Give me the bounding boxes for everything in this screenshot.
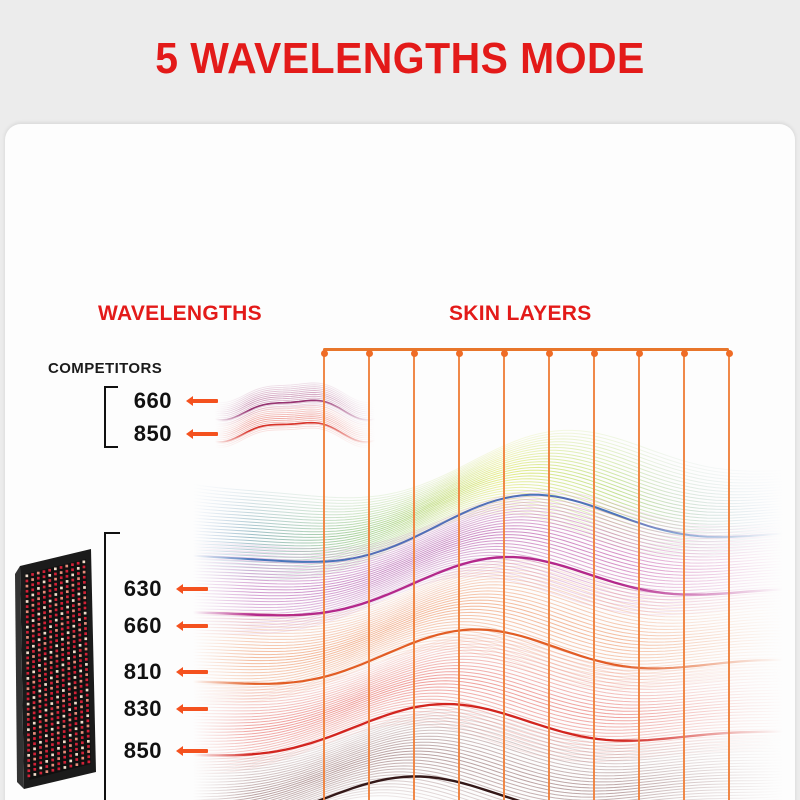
led-dot <box>84 637 87 640</box>
led-dot <box>26 621 29 624</box>
led-dot <box>54 568 57 571</box>
led-dot <box>44 693 47 696</box>
led-dot <box>83 571 86 574</box>
led-dot <box>49 625 52 628</box>
led-dot <box>55 650 58 653</box>
led-dot <box>26 585 29 588</box>
led-dot <box>72 625 75 628</box>
led-dot <box>80 680 83 683</box>
led-dot <box>32 681 35 684</box>
led-dot <box>45 734 48 737</box>
led-dot <box>62 710 65 713</box>
led-dot <box>62 669 65 672</box>
led-dot <box>27 759 30 762</box>
led-dot <box>68 683 71 686</box>
led-dot <box>33 753 36 756</box>
led-dot <box>33 768 36 771</box>
led-dot <box>60 607 63 610</box>
skin-layer-line <box>413 352 415 800</box>
led-dot <box>33 763 36 766</box>
led-dot <box>26 662 29 665</box>
led-dot <box>38 643 41 646</box>
led-dot <box>39 761 42 764</box>
led-dot <box>51 743 54 746</box>
led-dot <box>70 765 73 768</box>
led-dot <box>72 609 75 612</box>
led-dot <box>88 761 91 764</box>
led-dot <box>33 737 36 740</box>
led-dot <box>67 662 70 665</box>
led-dot <box>54 583 57 586</box>
led-dot <box>55 619 58 622</box>
led-dot <box>57 742 60 745</box>
wavelength-value: 850 <box>118 421 172 447</box>
led-dot <box>86 694 89 697</box>
skin-layer-line <box>503 352 505 800</box>
led-dot <box>83 581 86 584</box>
led-dot <box>26 580 29 583</box>
led-dot <box>50 687 53 690</box>
led-dot <box>62 679 65 682</box>
led-dot <box>63 725 66 728</box>
wavelength-value: 810 <box>108 659 162 685</box>
competitors-bracket <box>104 386 118 448</box>
led-dot <box>73 630 76 633</box>
skin-layer-line <box>683 352 685 800</box>
led-dot <box>39 700 42 703</box>
led-dot <box>85 648 88 651</box>
led-dot <box>56 706 59 709</box>
led-dot <box>77 588 80 591</box>
led-dot <box>80 685 83 688</box>
led-dot <box>68 672 71 675</box>
skin-layer-dot <box>501 350 508 357</box>
led-dot <box>57 732 60 735</box>
led-dot <box>68 693 71 696</box>
wavelength-value: 660 <box>118 388 172 414</box>
led-dot <box>51 759 54 762</box>
led-dot <box>56 680 59 683</box>
led-dot <box>44 637 47 640</box>
led-dot <box>63 756 66 759</box>
led-dot <box>56 675 59 678</box>
led-dot <box>26 631 29 634</box>
led-dot <box>60 571 63 574</box>
led-dot <box>78 593 81 596</box>
led-dot <box>33 717 36 720</box>
led-dot <box>76 763 79 766</box>
led-dot <box>73 645 76 648</box>
led-dot <box>63 720 66 723</box>
led-dot <box>87 735 90 738</box>
led-dot <box>80 700 83 703</box>
led-dot <box>27 728 30 731</box>
led-dot <box>73 635 76 638</box>
led-dot <box>51 718 54 721</box>
arrow-left-icon <box>176 704 208 714</box>
led-dot <box>49 610 52 613</box>
led-dot <box>27 764 30 767</box>
led-dot <box>79 670 82 673</box>
led-dot <box>52 769 55 772</box>
led-dot <box>45 729 48 732</box>
led-dot <box>43 627 46 630</box>
led-dot <box>86 689 89 692</box>
led-dot <box>69 724 72 727</box>
led-dot <box>62 699 65 702</box>
led-dot <box>45 704 48 707</box>
led-dot <box>67 631 70 634</box>
led-dot <box>27 749 30 752</box>
led-dot <box>73 661 76 664</box>
led-dot <box>40 772 43 775</box>
led-dot <box>38 628 41 631</box>
led-dot <box>49 595 52 598</box>
led-dot <box>78 603 81 606</box>
skin-layer-dot <box>321 350 328 357</box>
led-dot <box>69 760 72 763</box>
led-dot <box>50 666 53 669</box>
skin-layer-dot <box>456 350 463 357</box>
led-dot <box>62 694 65 697</box>
skin-layer-dot <box>366 350 373 357</box>
skin-layer-dot <box>726 350 733 357</box>
led-dot <box>57 747 60 750</box>
led-dot <box>83 586 86 589</box>
wavelength-value: 660 <box>108 613 162 639</box>
led-dot <box>27 769 30 772</box>
led-dot <box>32 609 35 612</box>
led-dot <box>78 618 81 621</box>
led-dot <box>33 706 36 709</box>
led-dot <box>39 751 42 754</box>
led-dot <box>32 640 35 643</box>
led-dot <box>68 708 71 711</box>
led-dot <box>60 581 63 584</box>
led-dot <box>44 678 47 681</box>
led-dot <box>86 704 89 707</box>
led-dot <box>75 738 78 741</box>
led-dot <box>26 616 29 619</box>
led-dot <box>26 646 29 649</box>
led-dot <box>61 623 64 626</box>
led-dot <box>66 580 69 583</box>
led-dot <box>44 663 47 666</box>
led-dot <box>72 584 75 587</box>
led-dot <box>37 582 40 585</box>
led-dot <box>43 632 46 635</box>
led-dot <box>68 678 71 681</box>
led-dot <box>60 597 63 600</box>
wave-line <box>193 644 783 696</box>
led-dot <box>33 712 36 715</box>
led-dot <box>33 727 36 730</box>
led-dot <box>72 594 75 597</box>
led-dot <box>65 565 68 568</box>
led-dot <box>38 669 41 672</box>
led-dot <box>67 642 70 645</box>
led-dot <box>66 616 69 619</box>
led-dot <box>33 747 36 750</box>
led-dot <box>39 695 42 698</box>
led-dot <box>39 731 42 734</box>
led-dot <box>80 705 83 708</box>
led-dot <box>38 685 41 688</box>
led-dot <box>64 766 67 769</box>
led-dot <box>81 731 84 734</box>
led-dot <box>68 688 71 691</box>
led-dot <box>82 762 85 765</box>
led-dot <box>84 622 87 625</box>
led-dot <box>44 652 47 655</box>
led-dot <box>32 619 35 622</box>
led-dot <box>27 677 30 680</box>
led-dot <box>67 647 70 650</box>
led-dot <box>54 578 57 581</box>
led-dot <box>27 718 30 721</box>
led-dot <box>26 610 29 613</box>
led-dot <box>45 714 48 717</box>
led-dot <box>87 745 90 748</box>
skin-layer-line <box>368 352 370 800</box>
led-dot <box>33 696 36 699</box>
led-dot <box>75 758 78 761</box>
led-dot <box>62 674 65 677</box>
led-dot <box>43 581 46 584</box>
led-dot <box>87 730 90 733</box>
led-dot <box>39 767 42 770</box>
led-dot <box>27 682 30 685</box>
arrow-left-icon <box>176 746 208 756</box>
led-dot <box>72 620 75 623</box>
led-dot <box>54 573 57 576</box>
led-dot <box>50 651 53 654</box>
led-dot <box>66 595 69 598</box>
led-dot <box>26 590 29 593</box>
led-dot <box>60 566 63 569</box>
led-dot <box>38 633 41 636</box>
skin-layer-dot <box>681 350 688 357</box>
led-dot <box>32 676 35 679</box>
led-dot <box>55 629 58 632</box>
led-dot <box>55 598 58 601</box>
led-dot <box>60 587 63 590</box>
led-dot <box>54 593 57 596</box>
led-dot <box>45 724 48 727</box>
led-dot <box>61 648 64 651</box>
led-dot <box>63 740 66 743</box>
led-dot <box>26 651 29 654</box>
led-dot <box>39 705 42 708</box>
led-dot <box>33 742 36 745</box>
led-dot <box>78 634 81 637</box>
led-dot <box>56 685 59 688</box>
led-dot <box>63 735 66 738</box>
led-dot <box>33 722 36 725</box>
led-dot <box>46 770 49 773</box>
led-dot <box>84 632 87 635</box>
led-dot <box>50 661 53 664</box>
led-dot <box>85 643 88 646</box>
led-dot <box>79 649 82 652</box>
led-dot <box>81 757 84 760</box>
wavelength-value: 850 <box>108 738 162 764</box>
led-dot <box>83 591 86 594</box>
led-dot <box>63 761 66 764</box>
led-dot <box>45 745 48 748</box>
led-dot <box>27 739 30 742</box>
led-dot <box>49 605 52 608</box>
arrow-left-icon <box>176 584 208 594</box>
led-dot <box>45 719 48 722</box>
led-dot <box>32 660 35 663</box>
led-dot <box>80 716 83 719</box>
led-dot <box>43 611 46 614</box>
led-dot <box>45 740 48 743</box>
led-dot <box>63 751 66 754</box>
led-dot <box>49 630 52 633</box>
led-dot <box>56 670 59 673</box>
led-dot <box>72 589 75 592</box>
led-dot <box>72 604 75 607</box>
led-dot <box>66 611 69 614</box>
led-dot <box>85 653 88 656</box>
led-dot <box>62 684 65 687</box>
led-dot <box>79 654 82 657</box>
skin-layer-line <box>593 352 595 800</box>
led-dot <box>83 561 86 564</box>
led-dot <box>31 573 34 576</box>
wavelength-value: 830 <box>108 696 162 722</box>
led-dot <box>43 596 46 599</box>
skin-layers-rule <box>323 348 729 351</box>
led-dot <box>33 732 36 735</box>
led-dot <box>37 592 40 595</box>
product-wavelength-row: 830 <box>108 696 208 722</box>
led-dot <box>72 599 75 602</box>
led-dot <box>80 711 83 714</box>
led-dot <box>27 692 30 695</box>
led-dot <box>85 658 88 661</box>
led-dot <box>69 729 72 732</box>
led-dot <box>50 702 53 705</box>
led-dot <box>43 586 46 589</box>
led-dot <box>68 703 71 706</box>
competitors-label: COMPETITORS <box>48 360 162 377</box>
led-dot <box>51 712 54 715</box>
led-dot <box>74 686 77 689</box>
led-dot <box>73 640 76 643</box>
led-dot <box>81 747 84 750</box>
led-dot <box>26 575 29 578</box>
led-dot <box>45 750 48 753</box>
led-dot <box>72 615 75 618</box>
skin-layer-line <box>728 352 730 800</box>
led-dot <box>57 716 60 719</box>
led-dot <box>74 707 77 710</box>
led-dot <box>39 756 42 759</box>
led-dot <box>69 734 72 737</box>
led-dot <box>33 701 36 704</box>
page-title: 5 WAVELENGTHS MODE <box>28 34 772 84</box>
led-dot <box>83 576 86 579</box>
led-dot <box>48 579 51 582</box>
led-dot <box>66 585 69 588</box>
led-dot <box>78 629 81 632</box>
led-dot <box>38 623 41 626</box>
led-dot <box>44 668 47 671</box>
led-dot <box>26 626 29 629</box>
red-light-led-panel <box>15 544 101 794</box>
led-dot <box>26 657 29 660</box>
competitor-wavelength-row: 850 <box>118 421 218 447</box>
led-dot <box>45 760 48 763</box>
led-dot <box>26 595 29 598</box>
led-dot <box>74 676 77 679</box>
led-dot <box>68 713 71 716</box>
led-dot <box>75 733 78 736</box>
led-dot <box>55 603 58 606</box>
led-dot <box>55 634 58 637</box>
led-dot <box>66 606 69 609</box>
led-dot <box>75 727 78 730</box>
led-dot <box>27 687 30 690</box>
led-dot <box>43 606 46 609</box>
led-dot <box>71 563 74 566</box>
led-dot <box>43 601 46 604</box>
led-dot <box>85 668 88 671</box>
led-dot <box>79 659 82 662</box>
led-dot <box>37 577 40 580</box>
product-wavelength-row: 630 <box>108 576 208 602</box>
led-dot <box>85 663 88 666</box>
led-dot <box>62 664 65 667</box>
led-dot <box>33 686 36 689</box>
led-dot <box>54 588 57 591</box>
led-dot <box>32 665 35 668</box>
led-dot <box>57 762 60 765</box>
led-dot <box>55 624 58 627</box>
led-dot <box>87 725 90 728</box>
product-wavelength-row: 810 <box>108 659 208 685</box>
led-dot <box>55 639 58 642</box>
led-dot <box>32 624 35 627</box>
led-dot <box>66 590 69 593</box>
led-dot <box>31 594 34 597</box>
led-dot <box>61 653 64 656</box>
led-dot <box>74 717 77 720</box>
led-dot <box>37 613 40 616</box>
led-dot <box>27 744 30 747</box>
led-dot <box>55 609 58 612</box>
led-dot <box>79 664 82 667</box>
led-dot <box>50 682 53 685</box>
led-dot <box>83 566 86 569</box>
led-dot <box>39 720 42 723</box>
led-dot <box>78 608 81 611</box>
led-dot <box>57 752 60 755</box>
led-dot <box>80 690 83 693</box>
led-dot <box>79 675 82 678</box>
led-dot <box>32 655 35 658</box>
led-dot <box>32 671 35 674</box>
skin-layer-dot <box>546 350 553 357</box>
led-dot <box>66 601 69 604</box>
led-dot <box>61 612 64 615</box>
led-dot <box>39 726 42 729</box>
led-dot <box>85 678 88 681</box>
skin-layer-line <box>638 352 640 800</box>
